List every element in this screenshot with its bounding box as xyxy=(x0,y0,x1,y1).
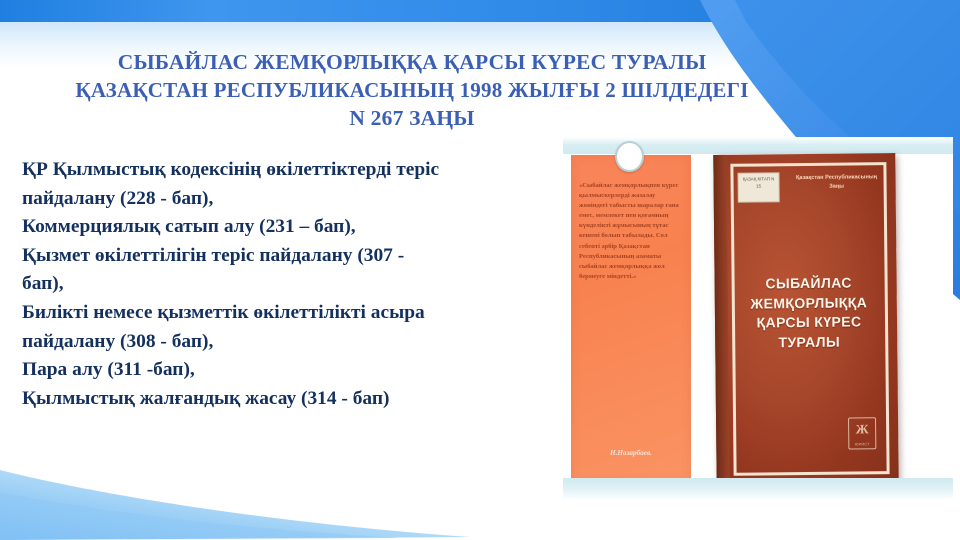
title-line-3: N 267 ЗАҢЫ xyxy=(18,104,806,132)
photo-bottom-band xyxy=(563,478,953,500)
body-line-3: Коммерциялық сатып алу (231 – бап), xyxy=(22,213,562,242)
publisher-name: ЮРИСТ xyxy=(849,442,875,446)
publisher-logo-icon: Ж ЮРИСТ xyxy=(848,417,876,449)
body-line-1: ҚР Қылмыстық кодексінің өкілеттіктерді т… xyxy=(22,156,562,185)
quote-panel: «Сыбайлас жемқорлықпен күрес қылмыскерле… xyxy=(571,155,691,483)
publisher-glyph: Ж xyxy=(849,421,875,437)
slide-title: СЫБАЙЛАС ЖЕМҚОРЛЫҚҚА ҚАРСЫ КҮРЕС ТУРАЛЫ … xyxy=(18,48,806,132)
slide-body-text: ҚР Қылмыстық кодексінің өкілеттіктерді т… xyxy=(22,156,562,413)
body-line-9: Қылмыстық жалғандық жасау (314 - бап) xyxy=(22,385,562,414)
body-line-6: Билікті немесе қызметтік өкілеттілікті а… xyxy=(22,299,562,328)
quote-panel-signature: Н.Назарбаев. xyxy=(579,449,683,457)
book-title: СЫБАЙЛАС ЖЕМҚОРЛЫҚҚА ҚАРСЫ КҮРЕС ТУРАЛЫ xyxy=(735,273,884,353)
ring-binder-icon xyxy=(615,141,644,172)
body-line-8: Пара алу (311 -бап), xyxy=(22,356,562,385)
title-line-1: СЫБАЙЛАС ЖЕМҚОРЛЫҚҚА ҚАРСЫ КҮРЕС ТУРАЛЫ xyxy=(18,48,806,76)
book-library-label: ҚАЗАҚ КІТАП N 15 xyxy=(737,172,779,202)
body-line-4: Қызмет өкілеттілігін теріс пайдалану (30… xyxy=(22,242,562,271)
body-line-5: бап), xyxy=(22,270,562,299)
book-photo: «Сыбайлас жемқорлықпен күрес қылмыскерле… xyxy=(563,137,953,500)
quote-panel-text: «Сыбайлас жемқорлықпен күрес қылмыскерле… xyxy=(579,181,683,282)
book-cover: ҚАЗАҚ КІТАП N 15 Қазақстан Республикасын… xyxy=(713,153,898,485)
slide-canvas: СЫБАЙЛАС ЖЕМҚОРЛЫҚҚА ҚАРСЫ КҮРЕС ТУРАЛЫ … xyxy=(0,0,960,540)
title-line-2: ҚАЗАҚСТАН РЕСПУБЛИКАСЫНЫҢ 1998 ЖЫЛҒЫ 2 Ш… xyxy=(18,76,806,104)
book-subtitle: Қазақстан Республикасының Заңы xyxy=(793,173,879,192)
book-spine xyxy=(713,155,729,485)
body-line-7: пайдалану (308 - бап), xyxy=(22,328,562,357)
body-line-2: пайдалану (228 - бап), xyxy=(22,185,562,214)
